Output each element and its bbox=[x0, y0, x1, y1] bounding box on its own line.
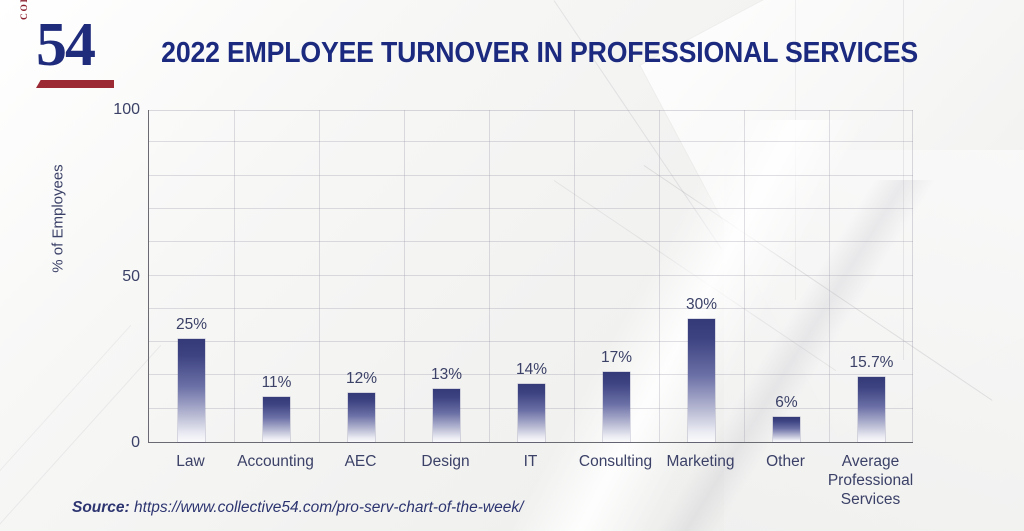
gridline-vertical bbox=[489, 110, 490, 442]
bar-chart: 25%11%12%13%14%17%30%6%15.7% bbox=[148, 110, 913, 443]
bar bbox=[858, 377, 885, 442]
bar bbox=[518, 384, 545, 442]
y-axis-tick-label: 0 bbox=[80, 434, 140, 452]
plot-frame-right bbox=[912, 110, 913, 442]
gridline-vertical bbox=[319, 110, 320, 442]
plot-frame-top bbox=[149, 110, 913, 111]
page-title: 2022 EMPLOYEE TURNOVER IN PROFESSIONAL S… bbox=[41, 36, 983, 70]
y-axis-tick-label: 50 bbox=[80, 268, 140, 286]
gridline-vertical bbox=[404, 110, 405, 442]
plot-area: 25%11%12%13%14%17%30%6%15.7% bbox=[148, 110, 913, 443]
source-label: Source: bbox=[72, 499, 130, 516]
source-caption: Source: https://www.collective54.com/pro… bbox=[72, 499, 523, 517]
gridline-vertical bbox=[234, 110, 235, 442]
bar-value-label: 17% bbox=[567, 349, 667, 367]
gridline-horizontal bbox=[149, 341, 913, 342]
bar bbox=[348, 393, 375, 442]
gridline-horizontal bbox=[149, 308, 913, 309]
slide-canvas: COLLECTIVE 54 2022 EMPLOYEE TURNOVER IN … bbox=[0, 0, 1024, 531]
bar bbox=[688, 319, 715, 442]
logo-accent-bar bbox=[36, 80, 114, 88]
gridline-horizontal bbox=[149, 275, 913, 276]
bar-value-label: 25% bbox=[142, 316, 242, 334]
bar bbox=[178, 339, 205, 442]
bar bbox=[263, 397, 290, 442]
gridline-vertical bbox=[829, 110, 830, 442]
bar-value-label: 15.7% bbox=[822, 354, 922, 372]
gridline-horizontal bbox=[149, 175, 913, 176]
bar bbox=[603, 372, 630, 442]
source-url: https://www.collective54.com/pro-serv-ch… bbox=[134, 499, 523, 516]
y-axis-tick-labels: 050100 bbox=[78, 110, 140, 443]
logo-vertical-text: COLLECTIVE bbox=[20, 0, 30, 20]
y-axis-tick-label: 100 bbox=[80, 101, 140, 119]
gridline-horizontal bbox=[149, 208, 913, 209]
y-axis-title: % of Employees bbox=[50, 119, 67, 319]
bar bbox=[773, 417, 800, 442]
gridline-vertical bbox=[744, 110, 745, 442]
gridline-vertical bbox=[574, 110, 575, 442]
gridline-vertical bbox=[659, 110, 660, 442]
gridline-horizontal bbox=[149, 241, 913, 242]
x-axis-tick-label: AverageProfessionalServices bbox=[816, 452, 926, 509]
bar bbox=[433, 389, 460, 442]
gridline-horizontal bbox=[149, 141, 913, 142]
bar-value-label: 6% bbox=[737, 394, 837, 412]
bar-value-label: 30% bbox=[652, 296, 752, 314]
